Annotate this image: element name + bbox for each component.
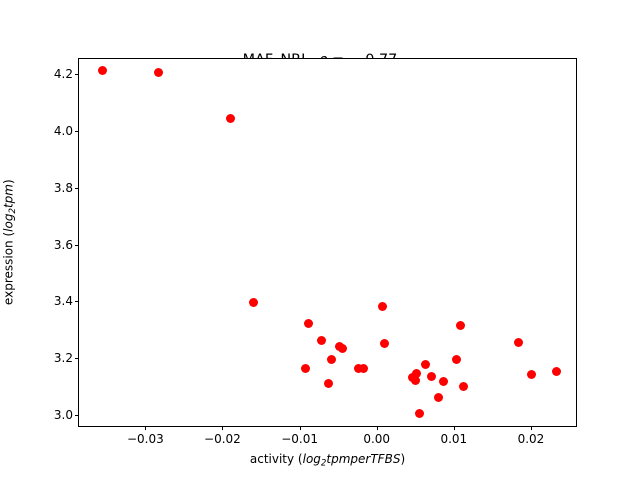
scatter-point (154, 68, 163, 77)
y-tick-mark (75, 415, 79, 416)
scatter-plot-figure: MAF_NRL, ρ = − 0.77 hg19_v2_chr16_-_7963… (0, 0, 640, 480)
y-tick-mark (75, 358, 79, 359)
scatter-point (421, 360, 430, 369)
scatter-point (226, 114, 235, 123)
x-tick-mark (454, 426, 455, 430)
y-tick-label: 3.2 (54, 351, 73, 365)
y-tick-label: 3.0 (54, 408, 73, 422)
x-tick-mark (222, 426, 223, 430)
scatter-point (412, 369, 421, 378)
y-tick-mark (75, 131, 79, 132)
scatter-point (427, 372, 436, 381)
scatter-point (434, 393, 443, 402)
y-tick-mark (75, 301, 79, 302)
x-tick-label: −0.02 (204, 432, 241, 446)
scatter-point (459, 382, 468, 391)
y-tick-mark (75, 245, 79, 246)
plot-axes: −0.03−0.02−0.010.000.010.02 3.03.23.43.6… (78, 58, 577, 427)
scatter-point (249, 298, 258, 307)
scatter-point (527, 370, 536, 379)
scatter-point (456, 321, 465, 330)
y-axis-label-subscript: 2 (8, 208, 18, 214)
x-tick-label: −0.03 (127, 432, 164, 446)
scatter-point (439, 377, 448, 386)
x-tick-mark (145, 426, 146, 430)
scatter-point (324, 379, 333, 388)
x-tick-label: 0.01 (440, 432, 467, 446)
y-tick-mark (75, 188, 79, 189)
scatter-point (338, 344, 347, 353)
y-axis-label: expression (log2tpm) (0, 58, 20, 427)
y-axis-label-log: log (2, 214, 16, 232)
scatter-point (98, 66, 107, 75)
x-tick-mark (377, 426, 378, 430)
y-tick-label: 3.8 (54, 181, 73, 195)
scatter-point (359, 364, 368, 373)
scatter-points-layer (79, 59, 576, 426)
scatter-point (301, 364, 310, 373)
x-tick-label: 0.02 (518, 432, 545, 446)
x-tick-mark (531, 426, 532, 430)
y-tick-label: 4.2 (54, 67, 73, 81)
scatter-point (514, 338, 523, 347)
y-axis-label-prefix: expression ( (2, 232, 16, 305)
x-axis-label-suffix: ) (400, 452, 405, 466)
scatter-point (304, 319, 313, 328)
y-axis-label-units: tpm (2, 184, 16, 208)
scatter-point (452, 355, 461, 364)
x-axis-label-units: tpmperTFBS (326, 452, 400, 466)
y-axis-label-suffix: ) (2, 180, 16, 185)
x-tick-label: 0.00 (363, 432, 390, 446)
x-tick-mark (300, 426, 301, 430)
scatter-point (378, 302, 387, 311)
x-tick-label: −0.01 (281, 432, 318, 446)
scatter-point (317, 336, 326, 345)
y-tick-label: 4.0 (54, 124, 73, 138)
x-axis-label-prefix: activity ( (250, 452, 303, 466)
y-tick-mark (75, 74, 79, 75)
y-tick-label: 3.6 (54, 238, 73, 252)
y-tick-label: 3.4 (54, 294, 73, 308)
x-axis-label-log: log (303, 452, 321, 466)
x-axis-label: activity (log2tpmperTFBS) (78, 452, 577, 468)
scatter-point (415, 409, 424, 418)
scatter-point (327, 355, 336, 364)
scatter-point (380, 339, 389, 348)
scatter-point (552, 367, 561, 376)
